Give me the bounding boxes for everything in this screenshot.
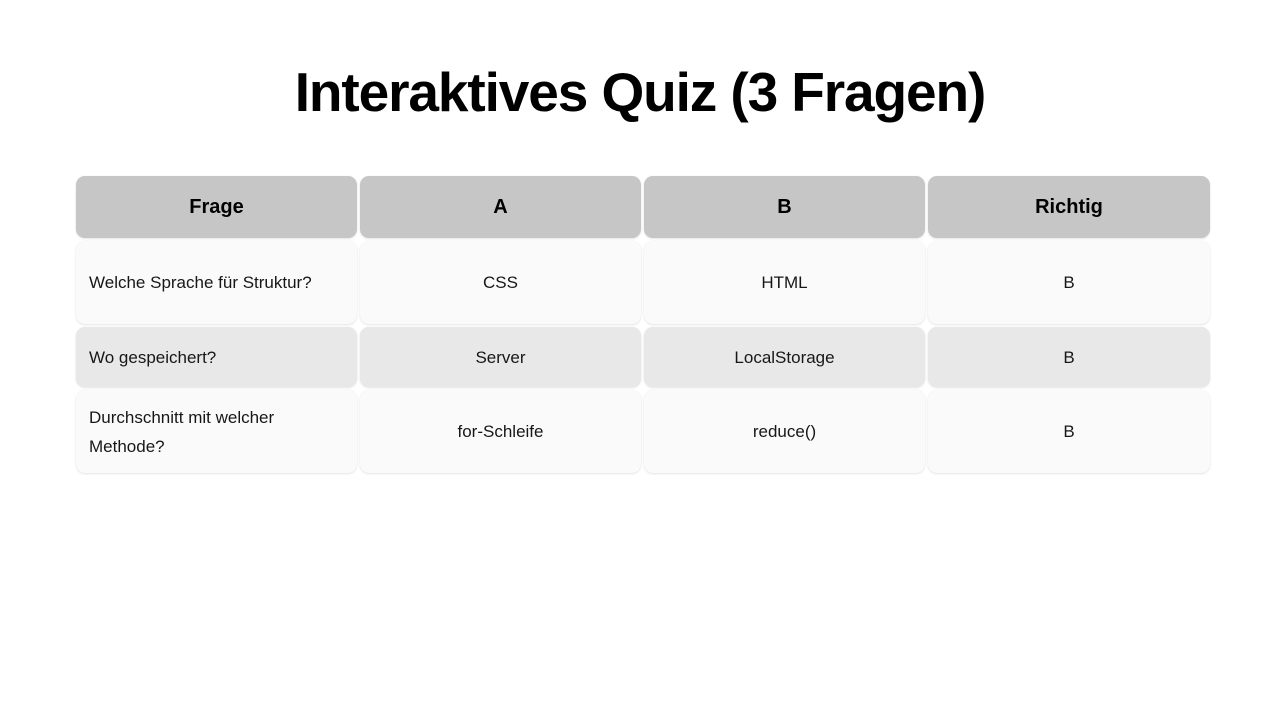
cell-option-a[interactable]: Server — [360, 327, 641, 387]
cell-correct-answer[interactable]: B — [928, 390, 1210, 473]
column-header-label: Richtig — [1035, 193, 1103, 222]
cell-frage[interactable]: Wo gespeichert? — [76, 327, 357, 387]
cell-option-b[interactable]: HTML — [644, 241, 925, 324]
cell-option-a[interactable]: for-Schleife — [360, 390, 641, 473]
table-row[interactable]: Durchschnitt mit welcher Methode? for-Sc… — [76, 390, 1204, 473]
page-title: Interaktives Quiz (3 Fragen) — [0, 58, 1280, 126]
column-header-label: Frage — [189, 193, 243, 222]
cell-text: B — [1063, 417, 1074, 446]
cell-text: CSS — [483, 268, 518, 297]
cell-text: Durchschnitt mit welcher Methode? — [89, 403, 344, 461]
cell-text: LocalStorage — [734, 343, 834, 372]
column-header-frage[interactable]: Frage — [76, 176, 357, 238]
cell-correct-answer[interactable]: B — [928, 327, 1210, 387]
cell-text: Wo gespeichert? — [89, 343, 216, 372]
cell-text: B — [1063, 343, 1074, 372]
quiz-table: Frage A B Richtig Welche Sprache für Str… — [76, 176, 1204, 473]
cell-correct-answer[interactable]: B — [928, 241, 1210, 324]
column-header-b[interactable]: B — [644, 176, 925, 238]
cell-option-b[interactable]: reduce() — [644, 390, 925, 473]
cell-frage[interactable]: Welche Sprache für Struktur? — [76, 241, 357, 324]
cell-frage[interactable]: Durchschnitt mit welcher Methode? — [76, 390, 357, 473]
column-header-a[interactable]: A — [360, 176, 641, 238]
cell-text: B — [1063, 268, 1074, 297]
cell-text: Welche Sprache für Struktur? — [89, 268, 312, 297]
slide-canvas: Interaktives Quiz (3 Fragen) Frage A B R… — [0, 0, 1280, 720]
table-header-row: Frage A B Richtig — [76, 176, 1204, 238]
table-row[interactable]: Welche Sprache für Struktur? CSS HTML B — [76, 241, 1204, 324]
cell-text: Server — [475, 343, 525, 372]
column-header-richtig[interactable]: Richtig — [928, 176, 1210, 238]
cell-text: for-Schleife — [458, 417, 544, 446]
table-row[interactable]: Wo gespeichert? Server LocalStorage B — [76, 327, 1204, 387]
cell-option-a[interactable]: CSS — [360, 241, 641, 324]
column-header-label: B — [777, 193, 791, 222]
cell-option-b[interactable]: LocalStorage — [644, 327, 925, 387]
column-header-label: A — [493, 193, 507, 222]
cell-text: HTML — [761, 268, 807, 297]
cell-text: reduce() — [753, 417, 816, 446]
